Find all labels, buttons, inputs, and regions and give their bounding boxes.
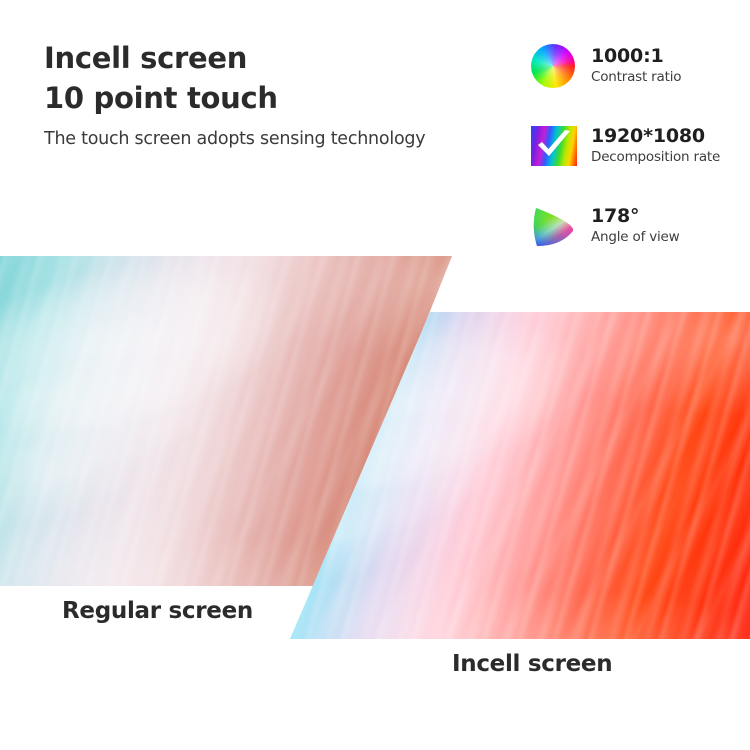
subtitle: The touch screen adopts sensing technolo… xyxy=(44,129,514,149)
check-mark-icon xyxy=(536,130,572,162)
viewing-angle-icon xyxy=(531,202,579,250)
rainbow-check-icon xyxy=(531,122,579,170)
feature-label: Contrast ratio xyxy=(591,69,681,86)
feature-item-decomposition-rate: 1920*1080 Decomposition rate xyxy=(531,118,750,174)
feature-label: Angle of view xyxy=(591,229,680,246)
regular-screen-caption: Regular screen xyxy=(62,598,253,624)
feature-list: 1000:1 Contrast ratio 1920*1080 Decompos… xyxy=(531,38,750,278)
feature-value: 178° xyxy=(591,206,680,228)
feature-item-angle-of-view: 178° Angle of view xyxy=(531,198,750,254)
headline-line-1: Incell screen xyxy=(44,38,514,78)
feature-value: 1920*1080 xyxy=(591,126,720,148)
header: Incell screen 10 point touch The touch s… xyxy=(44,38,514,149)
headline-line-2: 10 point touch xyxy=(44,78,514,118)
incell-screen-caption: Incell screen xyxy=(452,651,612,677)
feature-label: Decomposition rate xyxy=(591,149,720,166)
color-wheel-icon xyxy=(531,42,579,90)
feature-item-contrast-ratio: 1000:1 Contrast ratio xyxy=(531,38,750,94)
feature-value: 1000:1 xyxy=(591,46,681,68)
